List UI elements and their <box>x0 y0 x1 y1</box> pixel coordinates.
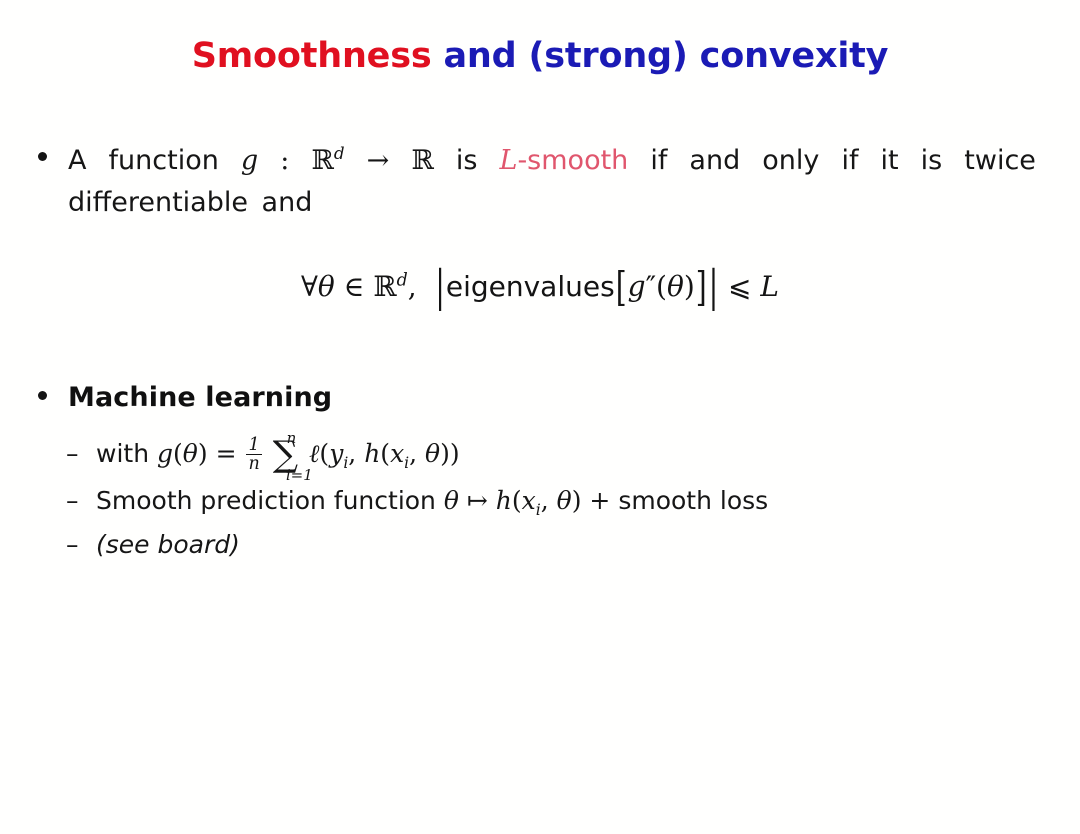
highlighted-term-l-smooth: L-smooth <box>500 145 629 176</box>
math-codomain-set: ℝ <box>411 145 433 176</box>
bullet-item-definition: A function g : ℝd → ℝ is L-smooth if and… <box>0 140 1080 225</box>
erm-paren-close: ) <box>198 439 208 468</box>
prediction-tail: smooth loss <box>618 486 768 515</box>
definition-lead: A function <box>68 145 219 176</box>
slide-title-blue-part: and (strong) convexity <box>443 36 888 76</box>
smooth-prediction-lead: Smooth prediction function <box>96 486 436 515</box>
prediction-h-symbol: h <box>496 486 512 515</box>
equation-set: ℝd <box>373 270 407 303</box>
mapsto-icon: ↦ <box>467 486 488 515</box>
sub-bullet-see-board: – (see board) <box>0 523 1080 566</box>
definition-is-word: is <box>456 145 478 176</box>
equation-bound-L: L <box>760 270 779 303</box>
prediction-h-args: (xi, θ) <box>512 486 582 515</box>
prediction-theta: θ <box>444 486 459 515</box>
equation-double-prime: ″ <box>646 270 656 303</box>
equation-comma: , <box>408 270 417 303</box>
erm-fraction-one-over-n: 1 n <box>246 436 261 474</box>
erm-paren-open: ( <box>173 439 183 468</box>
erm-summation: n ∑ i=1 <box>273 436 298 479</box>
equation-forall-icon: ∀ <box>301 270 318 303</box>
sub-bullet-dash-icon: – <box>66 523 79 566</box>
erm-loss-args: (yi, h(xi, θ)) <box>319 439 459 468</box>
bullet-dot-icon <box>38 391 47 400</box>
equation-abs-close-bar: | <box>709 261 718 312</box>
erm-g-symbol: g <box>157 439 173 468</box>
equation-paren-close: ) <box>684 270 695 303</box>
bullet-dot-icon <box>38 152 47 161</box>
equation-bracket-open: [ <box>616 263 627 311</box>
equation-theta: θ <box>318 270 335 303</box>
equation-in-icon: ∈ <box>344 270 365 303</box>
erm-theta: θ <box>183 439 198 468</box>
prediction-plus-icon: + <box>589 486 610 515</box>
math-arrow-icon: → <box>367 145 390 176</box>
sub-bullet-empirical-risk: – with g(θ) = 1 n n ∑ i=1 ℓ(yi, h(xi, θ)… <box>0 432 1080 479</box>
sub-bullet-dash-icon: – <box>66 479 79 522</box>
summation-upper-limit: n <box>287 426 297 452</box>
machine-learning-heading: Machine learning <box>68 382 1080 413</box>
equation-g-symbol: g <box>628 270 646 303</box>
equation-paren-open: ( <box>656 270 667 303</box>
slide-title: Smoothness and (strong) convexity <box>0 36 1080 76</box>
fraction-numerator: 1 <box>246 436 261 454</box>
sub-bullet-list: – with g(θ) = 1 n n ∑ i=1 ℓ(yi, h(xi, θ)… <box>0 432 1080 566</box>
equation-inner-theta: θ <box>667 270 684 303</box>
equation-eigenvalues-word: eigenvalues <box>446 270 615 303</box>
bullet-item-machine-learning: Machine learning <box>0 382 1080 413</box>
sub-bullet-dash-icon: – <box>66 432 79 475</box>
equation-leq-icon: ⩽ <box>728 270 751 303</box>
see-board-note: (see board) <box>96 530 240 559</box>
slide-title-red-part: Smoothness <box>192 36 432 76</box>
sub-bullet-smooth-prediction: – Smooth prediction function θ ↦ h(xi, θ… <box>0 479 1080 522</box>
equation-abs-open-bar: | <box>435 261 444 312</box>
math-domain-exponent: d <box>334 143 345 163</box>
math-domain-set: ℝd <box>311 145 344 176</box>
highlighted-term-symbol: L <box>500 145 518 176</box>
sub-bullet-lead-with: with <box>96 439 149 468</box>
slide-body: A function g : ℝd → ℝ is L-smooth if and… <box>0 140 1080 225</box>
slide-canvas: Smoothness and (strong) convexity A func… <box>0 0 1080 834</box>
bullet-definition-text: A function g : ℝd → ℝ is L-smooth if and… <box>68 140 1036 225</box>
highlighted-term-suffix: -smooth <box>517 145 628 176</box>
fraction-denominator: n <box>246 454 261 473</box>
display-equation: ∀θ ∈ ℝd, |eigenvalues[g″(θ)]| ⩽ L <box>0 270 1080 303</box>
math-function-symbol: g <box>241 145 258 176</box>
erm-equals: = <box>216 439 237 468</box>
equation-bracket-close: ] <box>696 263 707 311</box>
math-colon: : <box>280 145 289 176</box>
equation-set-exponent: d <box>397 271 408 291</box>
